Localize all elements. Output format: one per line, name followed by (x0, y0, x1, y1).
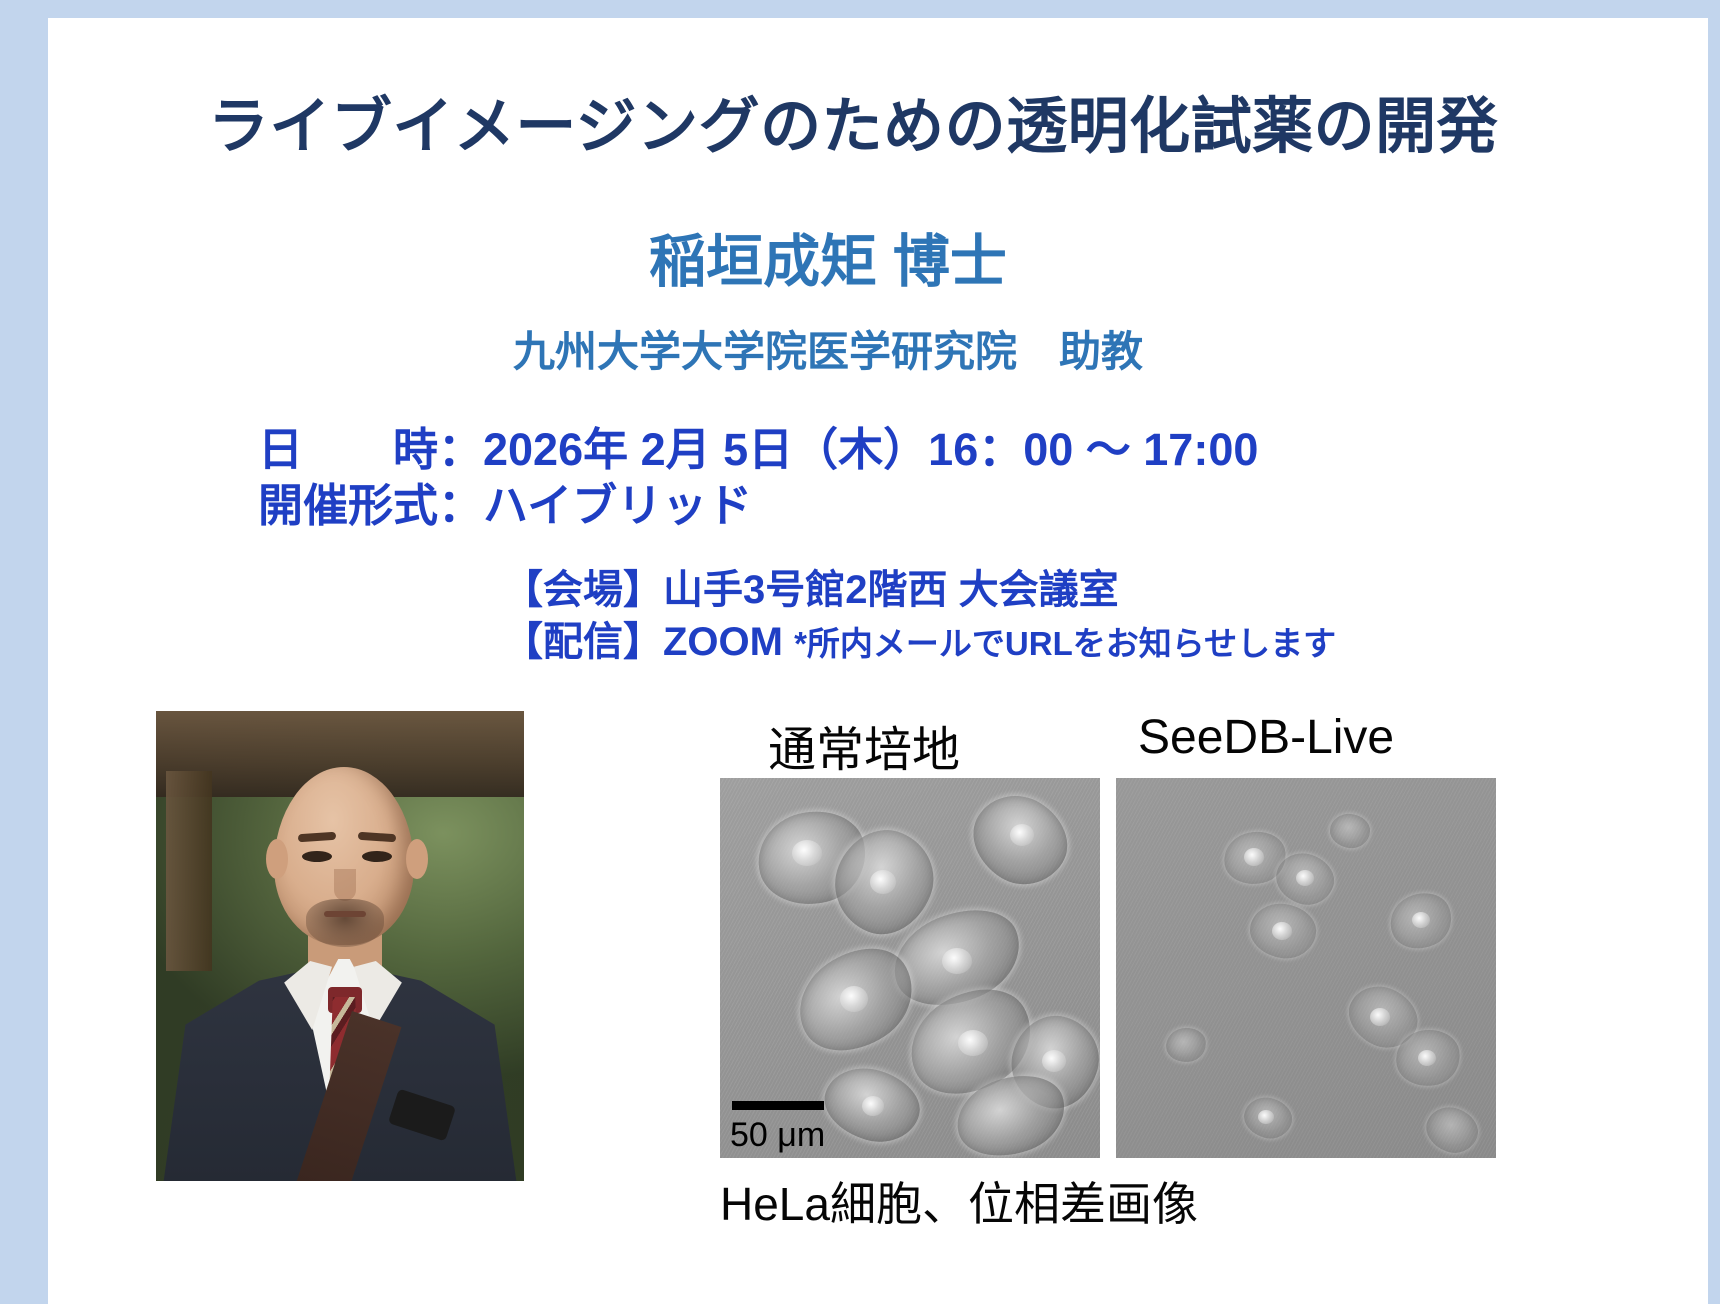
portrait-mouth (324, 911, 366, 917)
cell-nucleus (1272, 922, 1292, 940)
micrograph-seedb-live (1116, 778, 1496, 1158)
cell-nucleus (862, 1096, 884, 1116)
cell-nucleus (792, 840, 822, 866)
portrait-ear-right (406, 839, 428, 879)
micrograph-field-right (1116, 778, 1496, 1158)
figure-label-normal-medium: 通常培地 (768, 710, 960, 780)
speaker-name: 稲垣成矩 博士 (48, 216, 1608, 298)
figure-caption: HeLa細胞、位相差画像 (720, 1168, 1198, 1234)
venue-location: 【会場】山手3号館2階西 大会議室 (503, 564, 1336, 616)
event-format: 開催形式：ハイブリッド (258, 478, 1258, 534)
poster-frame: ライブイメージングのための透明化試薬の開発 稲垣成矩 博士 九州大学大学院医学研… (0, 0, 1720, 1304)
figure-labels: 通常培地 SeeDB-Live (648, 710, 1568, 770)
cell-nucleus (1296, 870, 1314, 886)
stream-note: *所内メールでURLをお知らせします (794, 625, 1336, 662)
cell-nucleus (1244, 848, 1264, 866)
portrait-ear-left (266, 839, 288, 879)
cell-nucleus (1042, 1050, 1066, 1072)
scale-bar-label: 50 μm (730, 1116, 825, 1154)
event-datetime: 日 時：2026年 2月 5日（木）16：00 ～ 17:00 (258, 422, 1258, 478)
cell-nucleus (870, 870, 896, 894)
cell-nucleus (1258, 1110, 1274, 1124)
scale-bar (732, 1101, 824, 1110)
portrait-eye-right (362, 851, 392, 862)
portrait-nose (334, 869, 356, 901)
page-title: ライブイメージングのための透明化試薬の開発 (48, 76, 1658, 165)
poster-sheet: ライブイメージングのための透明化試薬の開発 稲垣成矩 博士 九州大学大学院医学研… (48, 18, 1708, 1304)
cell-nucleus (1412, 912, 1430, 928)
cell-nucleus (942, 948, 972, 974)
speaker-portrait (156, 711, 524, 1181)
cell-nucleus (1418, 1050, 1436, 1066)
portrait-post (166, 771, 212, 971)
cell-nucleus (958, 1030, 988, 1056)
cell-nucleus (1010, 824, 1034, 846)
speaker-affiliation: 九州大学大学院医学研究院 助教 (48, 318, 1608, 379)
event-details-block: 日 時：2026年 2月 5日（木）16：00 ～ 17:00 開催形式：ハイブ… (258, 422, 1258, 534)
portrait-beard (306, 899, 384, 947)
venue-details-block: 【会場】山手3号館2階西 大会議室 【配信】ZOOM *所内メールでURLをお知… (503, 564, 1336, 670)
venue-stream: 【配信】ZOOM *所内メールでURLをお知らせします (503, 616, 1336, 670)
cell-nucleus (1370, 1008, 1390, 1026)
cell-nucleus (840, 986, 868, 1012)
figure-label-seedb-live: SeeDB-Live (1138, 710, 1394, 765)
micrograph-normal-medium: 50 μm (720, 778, 1100, 1158)
stream-label: 【配信】ZOOM (503, 620, 794, 664)
portrait-eye-left (302, 851, 332, 862)
